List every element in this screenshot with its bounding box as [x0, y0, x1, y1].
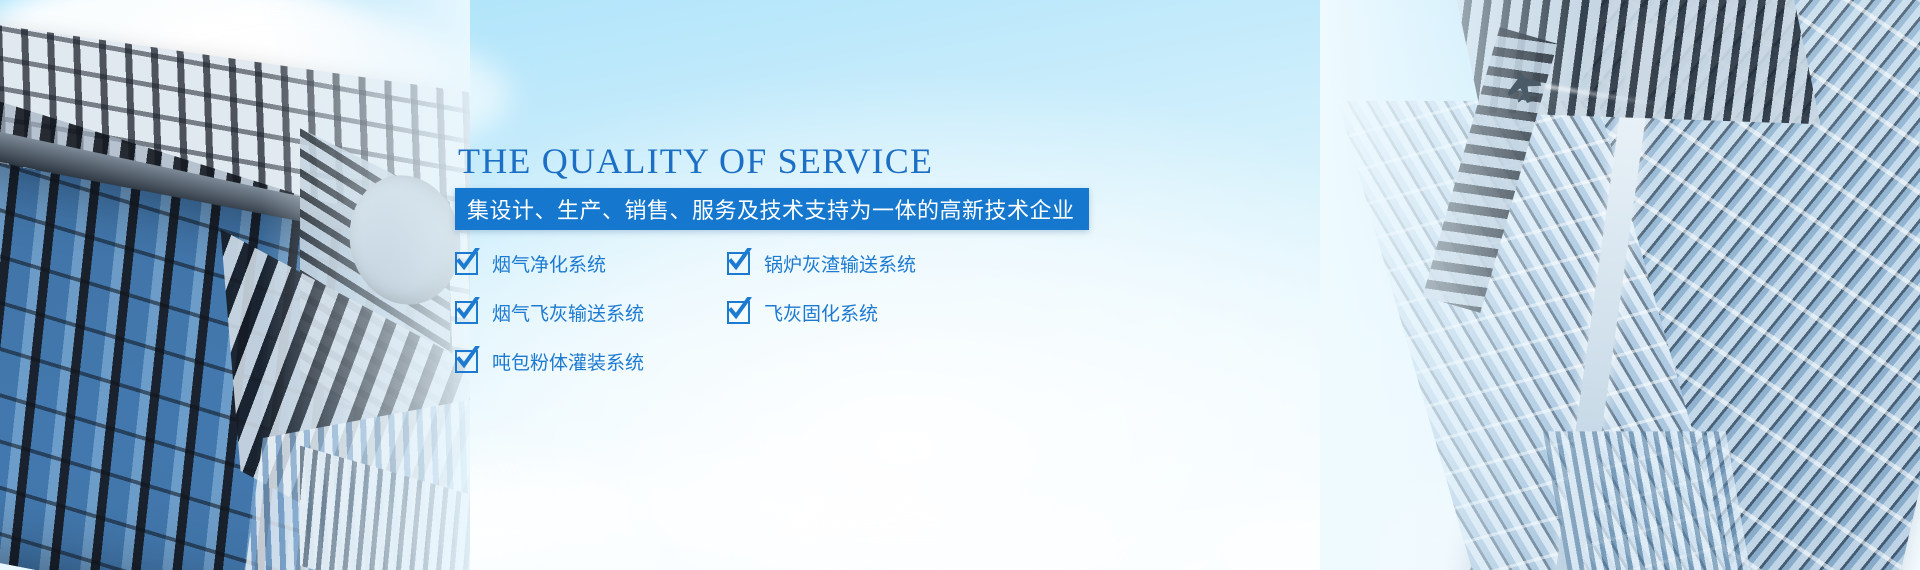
- checked-checkbox-icon: [455, 301, 478, 324]
- airplane-icon: [1486, 60, 1557, 122]
- checked-checkbox-icon: [455, 350, 478, 373]
- feature-label: 锅炉灰渣输送系统: [764, 250, 916, 277]
- tagline-text: 集设计、生产、销售、服务及技术支持为一体的高新技术企业: [467, 193, 1075, 225]
- left-building: [0, 0, 470, 570]
- left-edge-fade: [260, 0, 470, 570]
- checked-checkbox-icon: [455, 252, 478, 275]
- airplane-group: [1492, 68, 1612, 128]
- checked-checkbox-icon: [727, 301, 750, 324]
- tagline-bar: 集设计、生产、销售、服务及技术支持为一体的高新技术企业: [455, 188, 1089, 230]
- feature-item[interactable]: 烟气飞灰输送系统: [455, 299, 727, 326]
- feature-label: 烟气净化系统: [492, 250, 606, 277]
- feature-item[interactable]: 飞灰固化系统: [727, 299, 878, 326]
- hero-banner: THE QUALITY OF SERVICE 集设计、生产、销售、服务及技术支持…: [0, 0, 1920, 570]
- feature-label: 飞灰固化系统: [764, 299, 878, 326]
- feature-item[interactable]: 吨包粉体灌装系统: [455, 348, 727, 375]
- checked-checkbox-icon: [727, 252, 750, 275]
- right-building: [1320, 0, 1920, 570]
- feature-row: 吨包粉体灌装系统: [455, 348, 1075, 375]
- feature-label: 烟气飞灰输送系统: [492, 299, 644, 326]
- feature-row: 烟气净化系统 锅炉灰渣输送系统: [455, 250, 1075, 277]
- banner-content: THE QUALITY OF SERVICE 集设计、生产、销售、服务及技术支持…: [455, 0, 1395, 570]
- feature-item[interactable]: 烟气净化系统: [455, 250, 727, 277]
- feature-list: 烟气净化系统 锅炉灰渣输送系统 烟气飞灰输送系统: [455, 250, 1075, 397]
- feature-row: 烟气飞灰输送系统 飞灰固化系统: [455, 299, 1075, 326]
- headline-english: THE QUALITY OF SERVICE: [458, 140, 933, 182]
- feature-label: 吨包粉体灌装系统: [492, 348, 644, 375]
- feature-item[interactable]: 锅炉灰渣输送系统: [727, 250, 916, 277]
